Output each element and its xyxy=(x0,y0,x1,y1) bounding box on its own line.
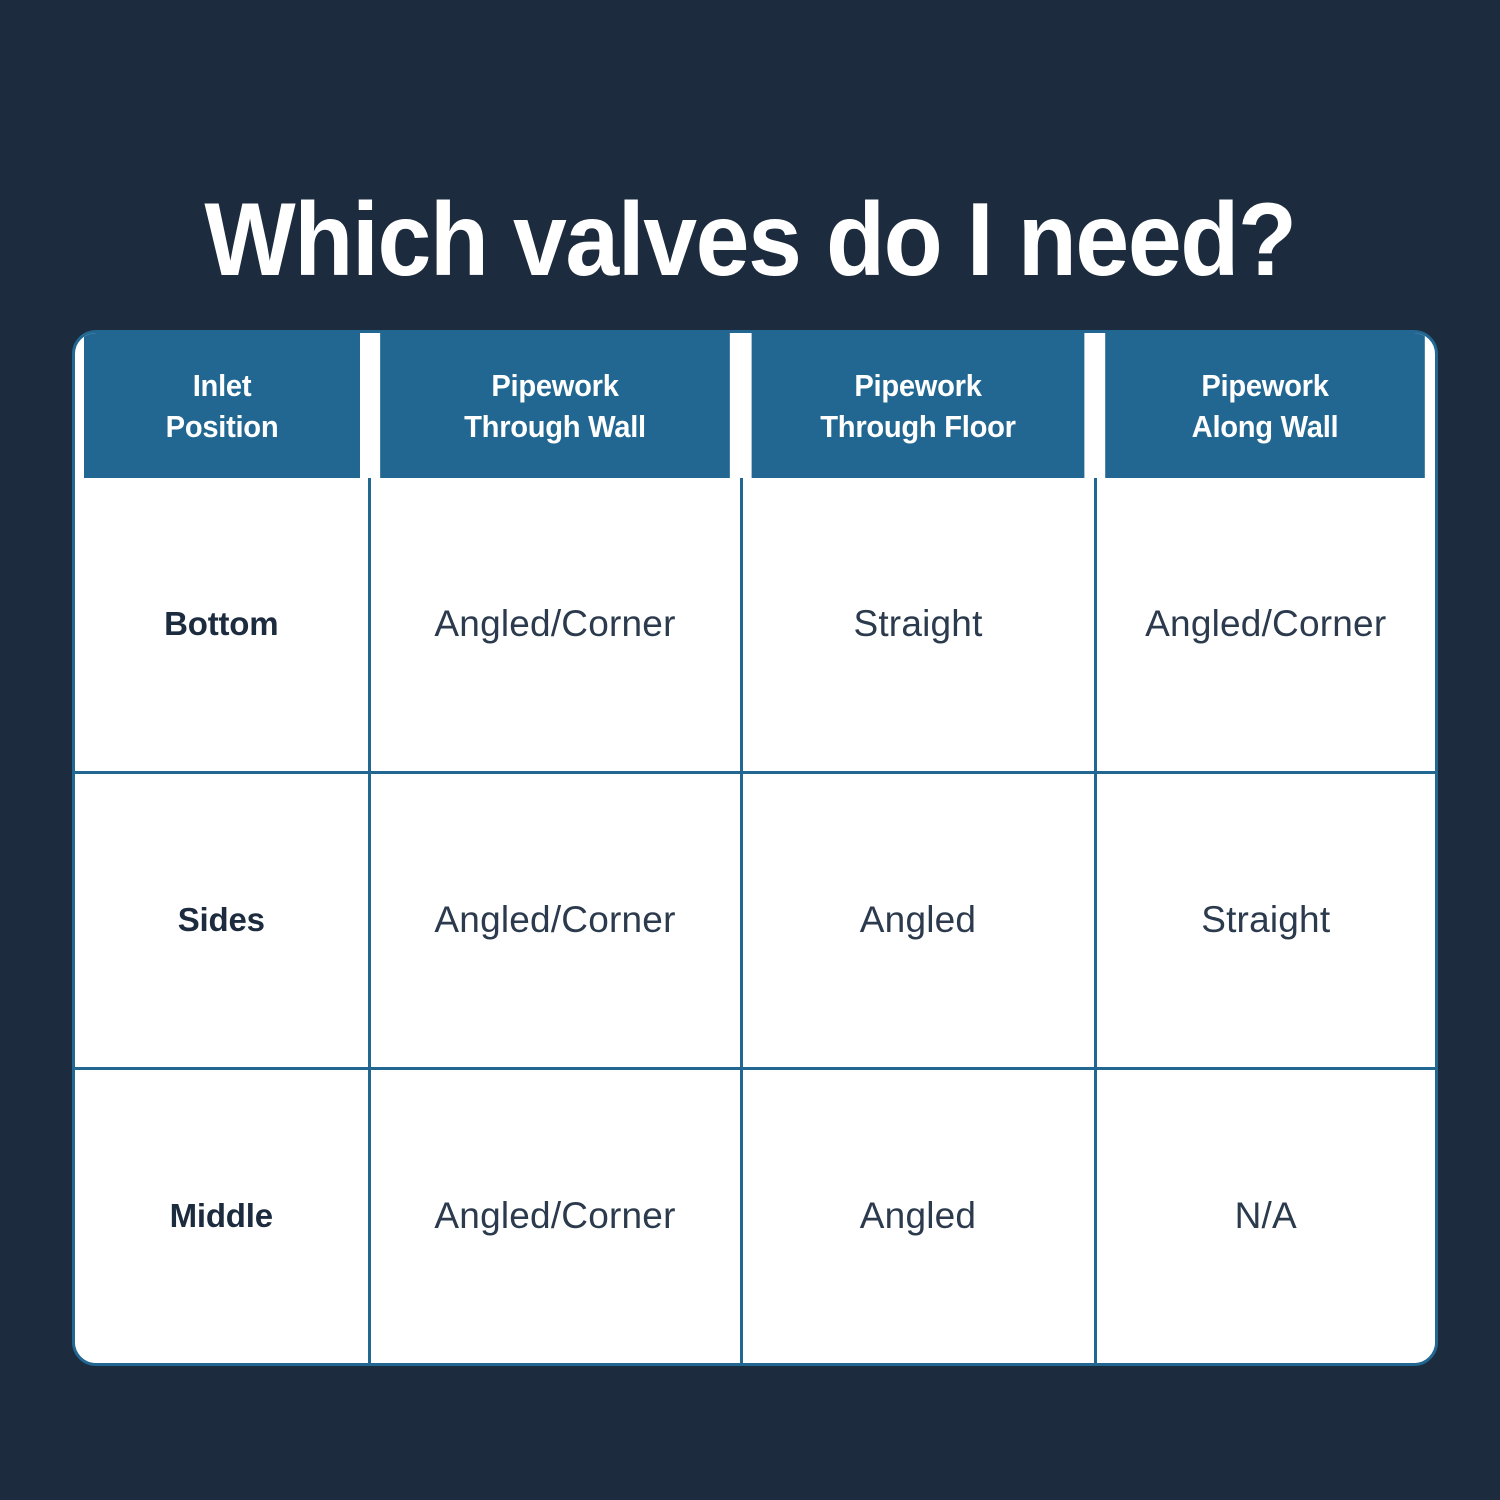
row-label-sides: Sides xyxy=(75,772,369,1068)
valve-selection-infographic: Which valves do I need? Inlet Position P… xyxy=(0,0,1500,1500)
column-header-pipework-through-floor: Pipework Through Floor xyxy=(752,333,1085,478)
column-header-pipework-through-wall-line2: Through Wall xyxy=(390,406,721,447)
table-row: Middle Angled/Corner Angled N/A xyxy=(75,1068,1435,1363)
cell-sides-through-wall: Angled/Corner xyxy=(369,772,741,1068)
column-header-pipework-through-floor-line1: Pipework xyxy=(761,365,1075,406)
row-label-middle: Middle xyxy=(75,1068,369,1363)
table-body: Bottom Angled/Corner Straight Angled/Cor… xyxy=(75,478,1435,1363)
column-header-pipework-through-floor-line2: Through Floor xyxy=(761,406,1075,447)
table-row: Sides Angled/Corner Angled Straight xyxy=(75,772,1435,1068)
column-header-pipework-through-wall: Pipework Through Wall xyxy=(380,333,730,478)
column-header-inlet-position-line2: Position xyxy=(93,406,351,447)
column-header-inlet-position-line1: Inlet xyxy=(93,365,351,406)
cell-bottom-through-wall: Angled/Corner xyxy=(369,478,741,772)
table-row: Bottom Angled/Corner Straight Angled/Cor… xyxy=(75,478,1435,772)
cell-middle-through-wall: Angled/Corner xyxy=(369,1068,741,1363)
column-header-inlet-position: Inlet Position xyxy=(84,333,360,478)
valve-selection-table: Inlet Position Pipework Through Wall Pip… xyxy=(75,333,1435,1363)
table-header-row: Inlet Position Pipework Through Wall Pip… xyxy=(75,333,1435,478)
cell-middle-through-floor: Angled xyxy=(741,1068,1095,1363)
valve-selection-card: Inlet Position Pipework Through Wall Pip… xyxy=(72,330,1438,1366)
column-header-pipework-along-wall-line1: Pipework xyxy=(1115,365,1416,406)
column-header-pipework-through-wall-line1: Pipework xyxy=(390,365,721,406)
page-title: Which valves do I need? xyxy=(53,180,1448,300)
cell-sides-through-floor: Angled xyxy=(741,772,1095,1068)
row-label-bottom: Bottom xyxy=(75,478,369,772)
column-header-pipework-along-wall: Pipework Along Wall xyxy=(1105,333,1425,478)
cell-bottom-along-wall: Angled/Corner xyxy=(1095,478,1435,772)
cell-bottom-through-floor: Straight xyxy=(741,478,1095,772)
column-header-pipework-along-wall-line2: Along Wall xyxy=(1115,406,1416,447)
table-header: Inlet Position Pipework Through Wall Pip… xyxy=(75,333,1435,478)
cell-sides-along-wall: Straight xyxy=(1095,772,1435,1068)
cell-middle-along-wall: N/A xyxy=(1095,1068,1435,1363)
